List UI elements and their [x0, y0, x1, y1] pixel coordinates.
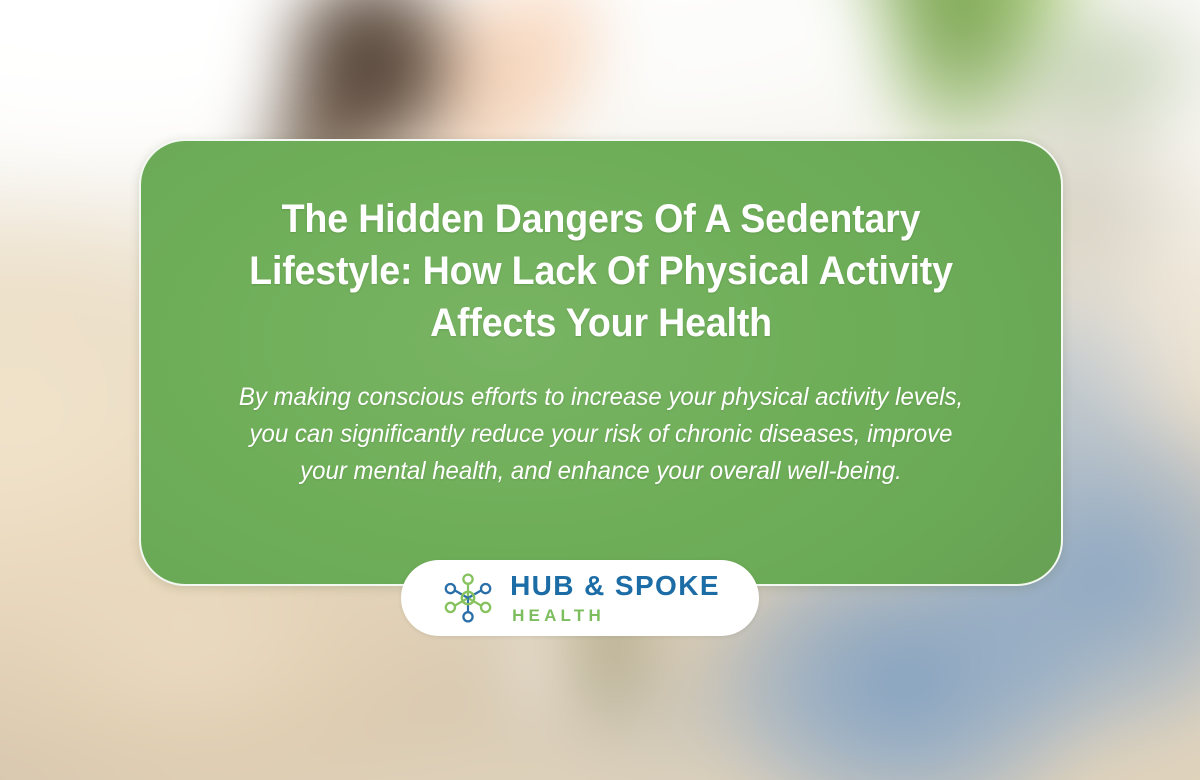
brand-logo-badge[interactable]: HUB & SPOKE HEALTH — [401, 560, 759, 636]
page-title: The Hidden Dangers Of A Sedentary Lifest… — [230, 193, 973, 349]
brand-name-secondary: HEALTH — [512, 607, 605, 624]
article-card: The Hidden Dangers Of A Sedentary Lifest… — [139, 139, 1063, 586]
brand-name-primary: HUB & SPOKE — [510, 572, 720, 600]
page-subtitle: By making conscious efforts to increase … — [236, 379, 966, 490]
brand-wordmark: HUB & SPOKE HEALTH — [510, 572, 720, 625]
hub-and-spoke-network-icon — [440, 570, 496, 626]
